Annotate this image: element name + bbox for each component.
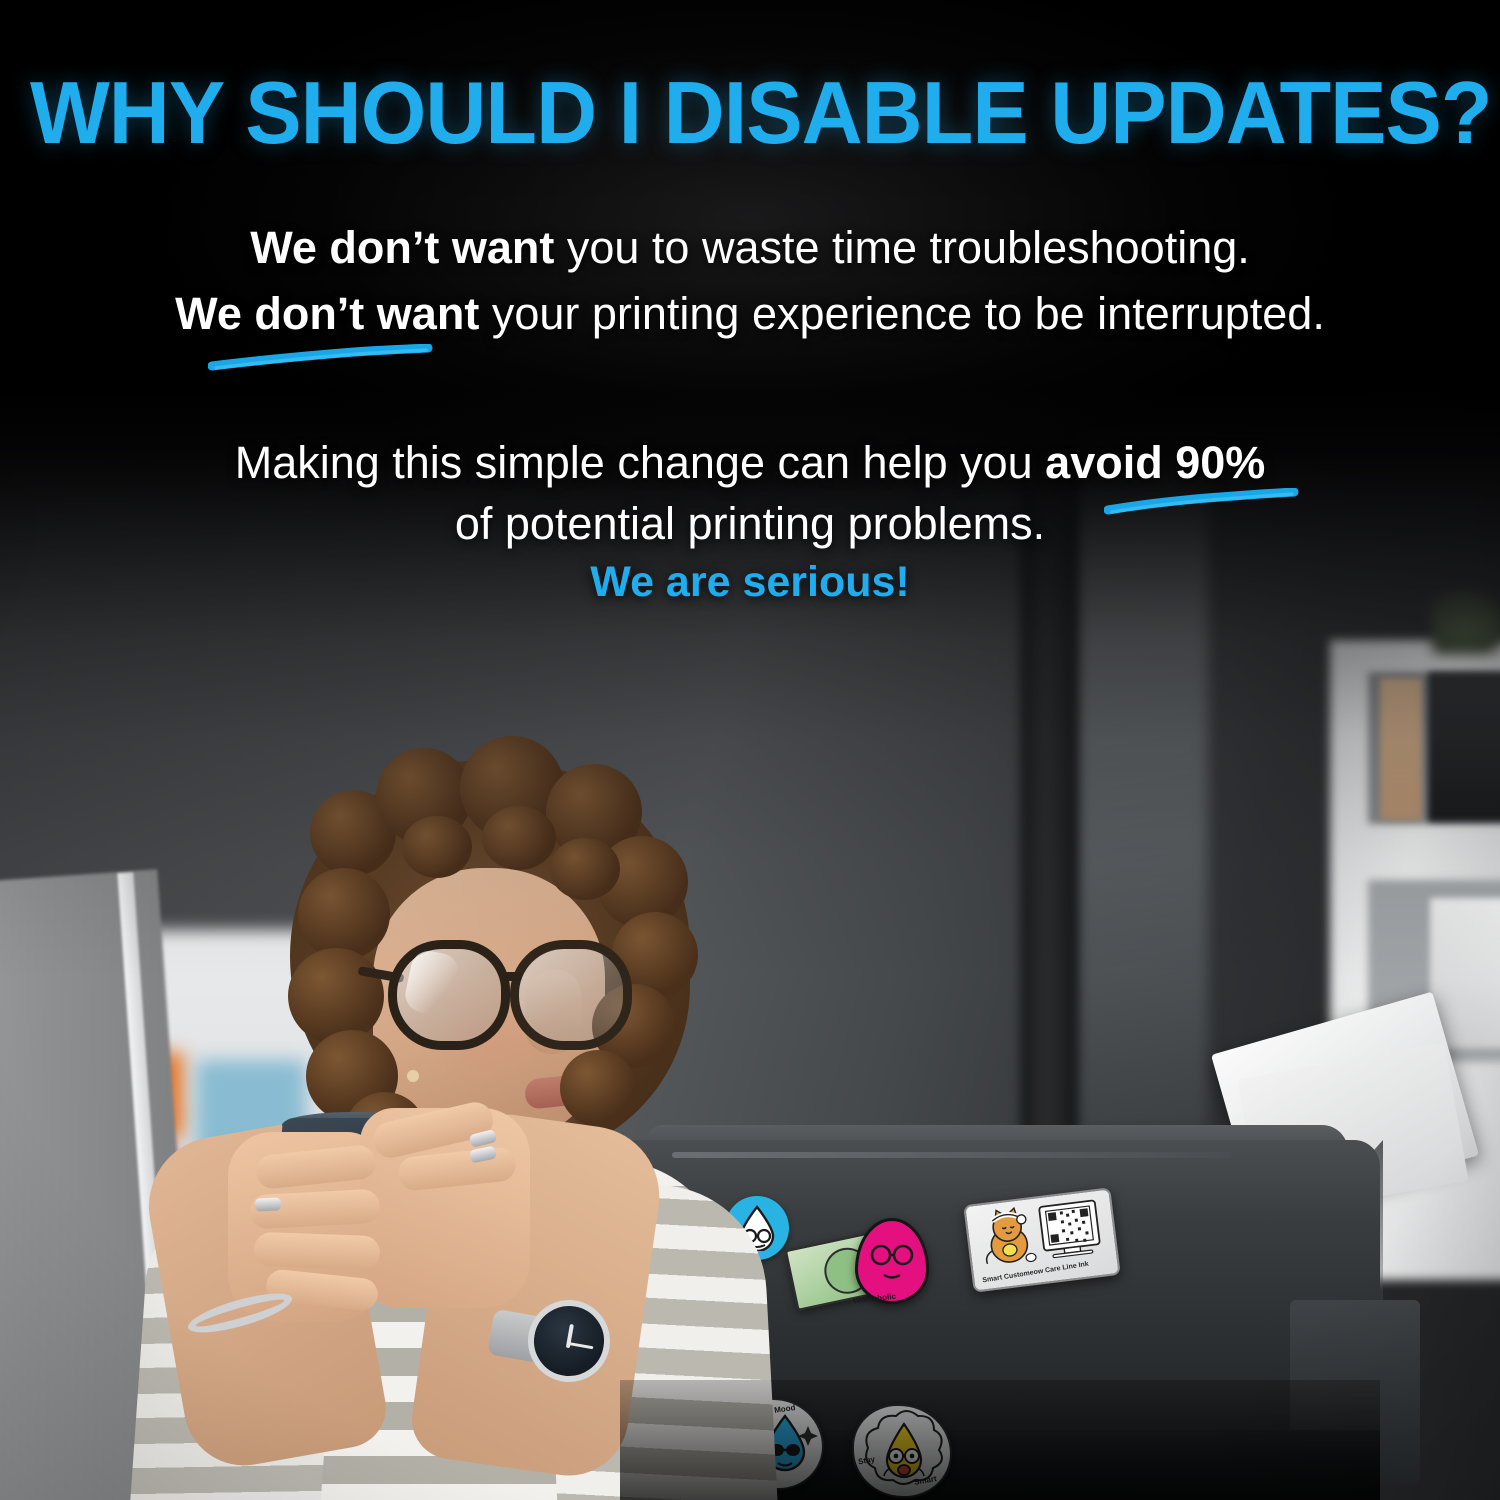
text-layer: WHY SHOULD I DISABLE UPDATES? We don’t w… xyxy=(0,0,1500,1500)
body-line-5-emphasis: We are serious! xyxy=(0,558,1500,607)
promo-banner: 100 Workaholic xyxy=(0,0,1500,1500)
body-line-2-rest: your printing experience to be interrupt… xyxy=(479,288,1325,339)
body-line-1: We don’t want you to waste time troubles… xyxy=(0,222,1500,274)
body-line-1-rest: you to waste time troubleshooting. xyxy=(554,222,1249,273)
body-line-2-bold: We don’t want xyxy=(175,288,479,339)
body-line-1-bold: We don’t want xyxy=(250,222,554,273)
page-title: WHY SHOULD I DISABLE UPDATES? xyxy=(30,62,1470,164)
body-line-3-rest: Making this simple change can help you xyxy=(235,437,1045,488)
underline-we-dont-want xyxy=(208,344,434,372)
body-line-4: of potential printing problems. xyxy=(0,498,1500,550)
body-line-3-bold: avoid 90% xyxy=(1045,437,1265,488)
body-line-2: We don’t want your printing experience t… xyxy=(0,288,1500,340)
body-line-3: Making this simple change can help you a… xyxy=(0,437,1500,489)
